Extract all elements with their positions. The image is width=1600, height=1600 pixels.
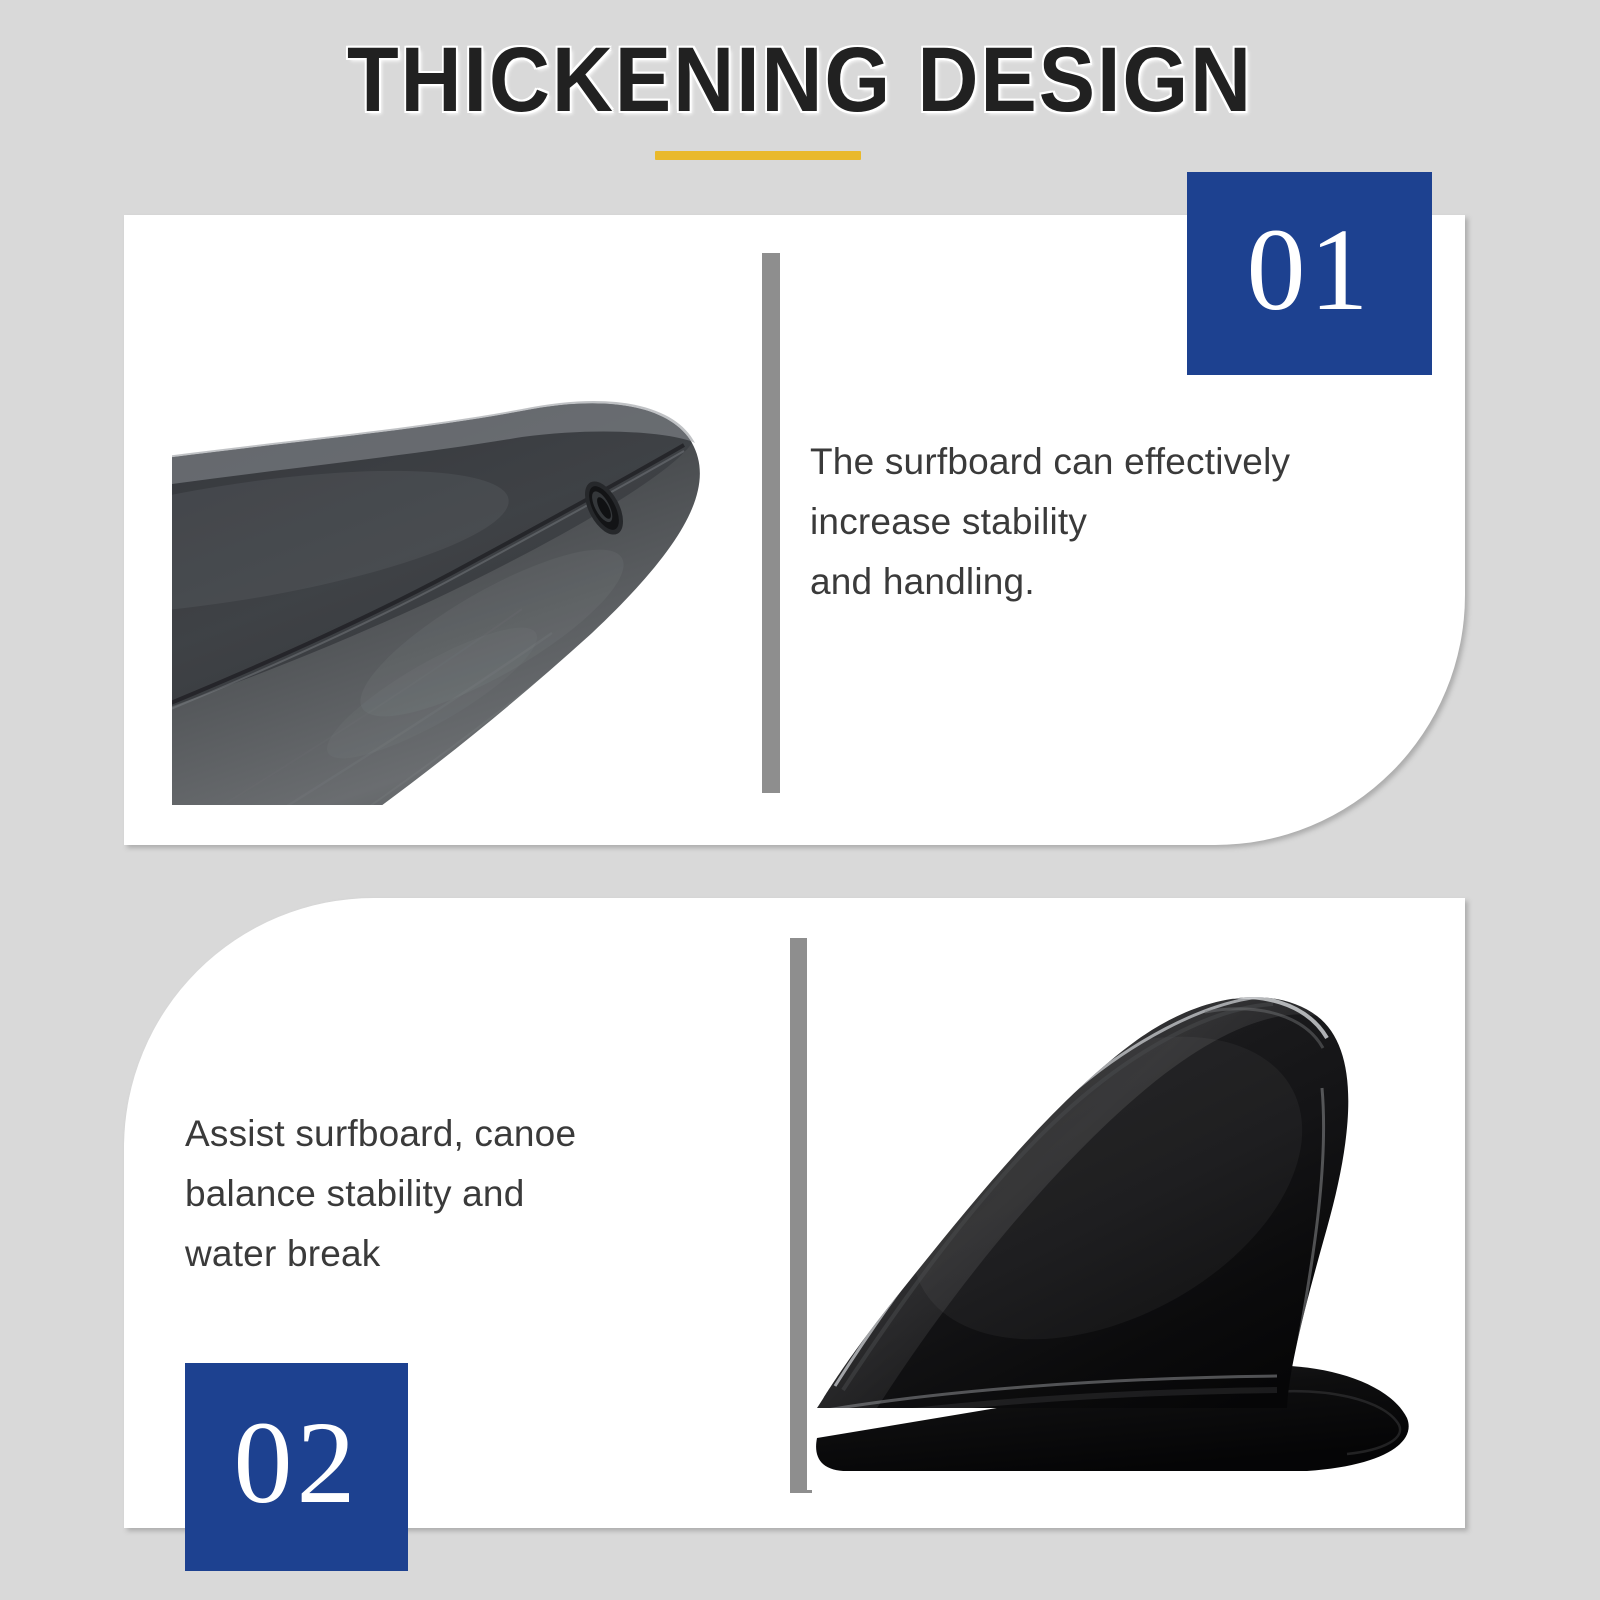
shark-fin-illustration bbox=[807, 928, 1411, 1490]
surfboard-fin-tip-icon bbox=[172, 333, 762, 805]
copy-line: balance stability and bbox=[185, 1164, 715, 1224]
panel-copy-01: The surfboard can effectively increase s… bbox=[810, 432, 1420, 612]
title-area: THICKENING DESIGN bbox=[0, 0, 1600, 190]
fin-tip-illustration bbox=[172, 243, 762, 805]
product-photo-02 bbox=[807, 928, 1411, 1490]
copy-line: and handling. bbox=[810, 552, 1420, 612]
title-underline-accent bbox=[655, 151, 861, 160]
panel-copy-02: Assist surfboard, canoe balance stabilit… bbox=[185, 1104, 715, 1284]
copy-line: The surfboard can effectively bbox=[810, 432, 1420, 492]
badge-number-text: 01 bbox=[1247, 211, 1373, 329]
badge-number-text: 02 bbox=[234, 1404, 360, 1522]
copy-line: water break bbox=[185, 1224, 715, 1284]
panel-number-badge-02: 02 bbox=[185, 1363, 408, 1571]
copy-line: Assist surfboard, canoe bbox=[185, 1104, 715, 1164]
page-title: THICKENING DESIGN bbox=[64, 28, 1536, 133]
product-photo-01 bbox=[172, 243, 762, 805]
panel-number-badge-01: 01 bbox=[1187, 172, 1432, 375]
glossy-shark-fin-icon bbox=[807, 938, 1411, 1490]
copy-line: increase stability bbox=[810, 492, 1420, 552]
